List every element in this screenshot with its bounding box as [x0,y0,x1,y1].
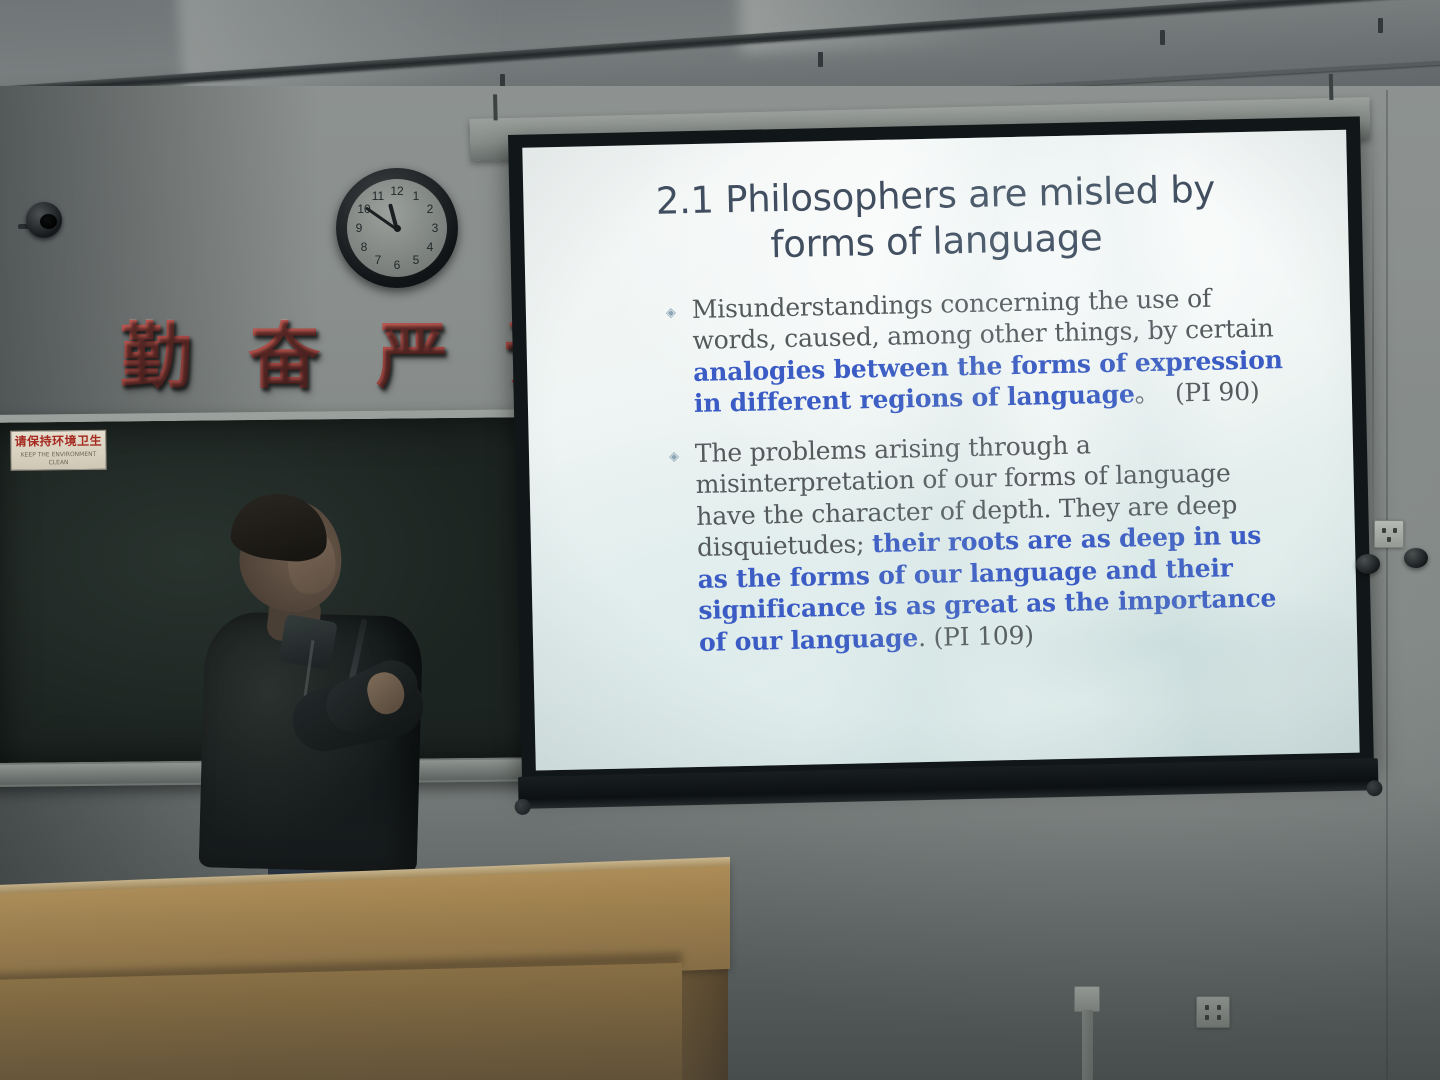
projection-screen[interactable]: 2.1 Philosophers are misled by forms of … [508,116,1374,784]
hygiene-notice-sign: 请保持环境卫生 KEEP THE ENVIRONMENT CLEAN [10,430,106,471]
ceiling-security-camera [18,200,64,242]
clock-numeral: 1 [408,189,424,203]
clock-face: 12 1 2 3 4 5 6 7 8 9 10 11 [347,179,447,277]
bullet-1-citation: (PI 90) [1175,377,1260,408]
pipe-clip [1378,18,1383,33]
floor-shadow-gradient [0,780,1440,1080]
motto-character-3: 严 [376,320,448,392]
clock-numeral: 5 [408,253,424,267]
wall-crack [1372,140,1374,560]
slide-bullet-1: ◈ Misunderstandings concerning the use o… [666,281,1295,421]
hygiene-notice-subtitle: KEEP THE ENVIRONMENT CLEAN [13,451,103,468]
presentation-slide[interactable]: 2.1 Philosophers are misled by forms of … [522,130,1359,771]
outlet-hole [1387,537,1391,542]
camera-lens-icon [40,214,57,229]
slide-bullet-1-text: Misunderstandings concerning the use of … [692,281,1295,420]
hygiene-notice-title: 请保持环境卫生 [13,434,103,449]
clock-numeral: 8 [356,240,372,254]
classroom-scene: 12 1 2 3 4 5 6 7 8 9 10 11 勤 奋 严 谨 请保持环境… [0,0,1440,1080]
bullet-1-plain: Misunderstandings concerning the use of … [692,283,1274,355]
diamond-bullet-icon: ◈ [666,305,692,319]
motto-character-2: 奋 [248,320,320,392]
bullet-2-period: . [918,623,926,652]
slide-bullet-2: ◈ The problems arising through a misinte… [669,425,1300,659]
diamond-bullet-icon: ◈ [669,449,695,463]
clock-numeral: 11 [370,189,386,203]
wall-clock: 12 1 2 3 4 5 6 7 8 9 10 11 [336,168,458,288]
clock-numeral: 7 [370,253,386,267]
camera-body [26,202,62,238]
housing-bracket [493,94,498,120]
outlet-hole [1382,528,1386,533]
bullet-1-period: 。 [1134,379,1159,409]
clock-numeral: 12 [389,184,405,198]
bullet-2-citation: (PI 109) [933,620,1034,651]
housing-bracket [1329,74,1334,100]
slide-title-line-2: forms of language [770,216,1103,266]
slide-body: ◈ Misunderstandings concerning the use o… [666,281,1300,659]
pipe-clip [1160,30,1165,45]
wall-motto: 勤 奋 严 谨 [120,300,560,412]
pipe-clip [818,52,823,67]
clock-numeral: 2 [422,202,438,216]
clock-numeral: 6 [389,258,405,272]
slide-title-line-1: 2.1 Philosophers are misled by [655,168,1215,223]
screen-mount-knob [1404,548,1428,568]
clock-numeral: 3 [427,221,443,235]
wall-power-outlet[interactable] [1374,520,1404,548]
clock-center-pin [394,225,401,232]
slide-bullet-2-text: The problems arising through a misinterp… [695,425,1300,659]
outlet-hole [1393,528,1397,533]
slide-title: 2.1 Philosophers are misled by forms of … [593,165,1279,272]
clock-numeral: 4 [422,240,438,254]
screen-mount-knob [1356,554,1380,574]
clock-numeral: 9 [351,221,367,235]
motto-character-1: 勤 [120,320,192,392]
